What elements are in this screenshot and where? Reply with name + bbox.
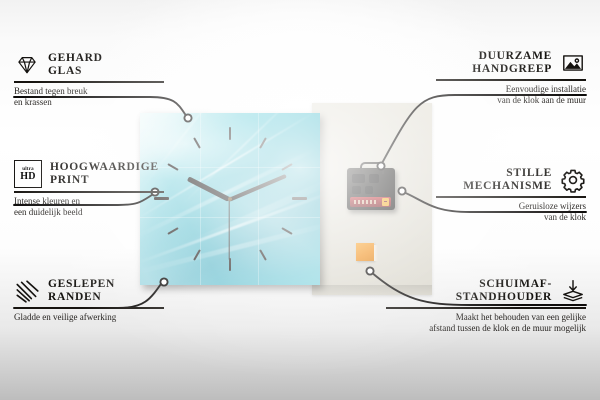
feature-title-line2: HANDGREEP xyxy=(472,63,552,76)
feature-desc-line1: Eenvoudige installatie xyxy=(436,84,586,96)
feature-desc-line1: Maakt het behouden van een gelijke xyxy=(386,312,586,324)
battery-positive-terminal xyxy=(382,198,389,206)
glass-reflection-line xyxy=(140,167,320,168)
feature-desc-line1: Gladde en veilige afwerking xyxy=(14,312,164,324)
clock-center-pin xyxy=(228,197,232,201)
feature-stille-mechanisme: STILLE MECHANISME Geruisloze wijzers van… xyxy=(436,167,586,224)
ultra-hd-icon-bottom: HD xyxy=(20,172,36,182)
feature-desc-line1: Intense kleuren en xyxy=(14,196,164,208)
feature-title-line1: GESLEPEN xyxy=(48,278,115,291)
mechanism-slot xyxy=(365,186,373,194)
feature-rule xyxy=(14,191,164,193)
feature-title-line1: SCHUIMAF- xyxy=(456,278,552,291)
feature-gehard-glas: GEHARD GLAS Bestand tegen breuk en krass… xyxy=(14,52,164,109)
feature-rule xyxy=(436,196,586,198)
feature-title-line1: GEHARD xyxy=(48,52,103,65)
clock-tick-6 xyxy=(229,258,231,271)
feature-title-line2: STANDHOUDER xyxy=(456,291,552,304)
feature-rule xyxy=(386,307,586,309)
feature-duurzame-handgreep: DUURZAME HANDGREEP Eenvoudige installati… xyxy=(436,50,586,107)
glass-reflection-line xyxy=(140,217,320,218)
feature-desc-line2: afstand tussen de klok en de muur mogeli… xyxy=(386,323,586,335)
feature-title-line2: MECHANISME xyxy=(463,180,552,193)
mechanism-slot xyxy=(369,174,379,183)
feature-title-line2: GLAS xyxy=(48,65,103,78)
mechanism-hanger xyxy=(360,162,384,174)
infographic-canvas: GEHARD GLAS Bestand tegen breuk en krass… xyxy=(0,0,600,400)
battery xyxy=(350,197,391,207)
feature-desc-line2: van de klok xyxy=(436,212,586,224)
clock-tick-5 xyxy=(259,249,267,260)
clock-second-hand xyxy=(228,199,229,259)
mechanism-slot xyxy=(352,186,361,194)
glass-wall-clock xyxy=(140,113,320,285)
clock-tick-3 xyxy=(292,197,307,200)
clock-tick-8 xyxy=(167,227,178,235)
arrow-down-stack-icon xyxy=(560,278,586,304)
clock-mechanism xyxy=(347,168,395,210)
clock-tick-1 xyxy=(259,137,267,148)
feature-title-line2: RANDEN xyxy=(48,291,115,304)
feature-rule xyxy=(14,81,164,83)
gear-icon xyxy=(560,167,586,193)
feature-desc-line2: van de klok aan de muur xyxy=(436,95,586,107)
clock-tick-12 xyxy=(229,127,231,140)
foam-spacer xyxy=(356,243,374,261)
feature-title-line1: STILLE xyxy=(463,167,552,180)
feature-schuimaf-standhouder: SCHUIMAF- STANDHOUDER Maakt het behouden… xyxy=(386,278,586,335)
feature-rule xyxy=(14,307,164,309)
feature-desc-line1: Bestand tegen breuk xyxy=(14,86,164,98)
feature-geslepen-randen: GESLEPEN RANDEN Gladde en veilige afwerk… xyxy=(14,278,164,323)
ultra-hd-icon: ultra HD xyxy=(14,160,42,188)
diagonal-lines-icon xyxy=(14,278,40,304)
feature-desc-line2: en krassen xyxy=(14,97,164,109)
mechanism-slot xyxy=(352,174,365,183)
feature-title-line1: DUURZAME xyxy=(472,50,552,63)
glass-reflection-line xyxy=(258,113,259,285)
feature-title-line1: HOOGWAARDIGE xyxy=(50,161,159,174)
picture-frame-icon xyxy=(560,50,586,76)
feature-hoogwaardige-print: ultra HD HOOGWAARDIGE PRINT Intense kleu… xyxy=(14,160,164,219)
feature-title-line2: PRINT xyxy=(50,174,159,187)
diamond-icon xyxy=(14,52,40,78)
feature-desc-line1: Geruisloze wijzers xyxy=(436,201,586,213)
battery-label xyxy=(354,200,378,204)
feature-rule xyxy=(436,79,586,81)
glass-reflection-line xyxy=(200,113,201,285)
feature-desc-line2: een duidelijk beeld xyxy=(14,207,164,219)
product-photo xyxy=(140,95,340,295)
